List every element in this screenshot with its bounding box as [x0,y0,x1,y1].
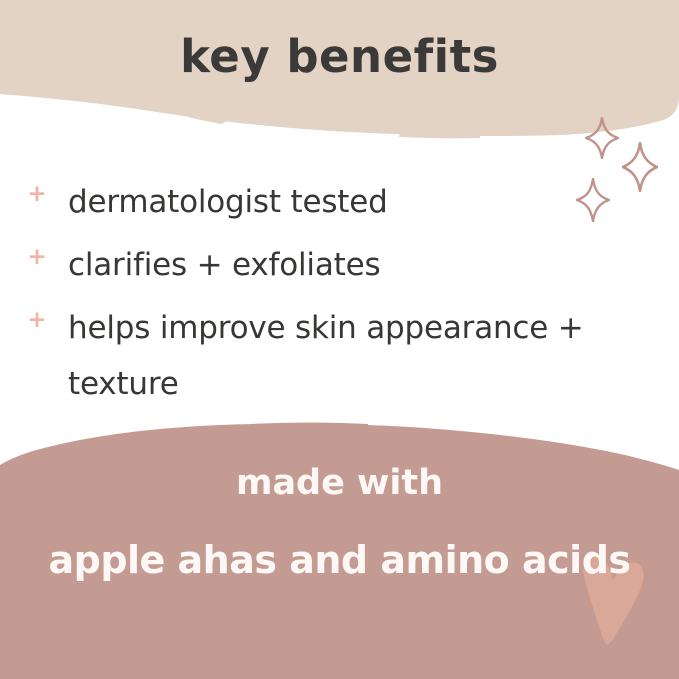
made-with-label: made with [0,466,679,501]
footer-content: made with apple ahas and amino acids [0,466,679,579]
list-item: + helps improve skin appearance + textur… [0,300,679,412]
ingredients-label: apple ahas and amino acids [0,541,679,579]
plus-bullet-icon: + [26,183,48,205]
plus-bullet-icon: + [26,309,48,331]
benefit-label: helps improve skin appearance + texture [68,300,679,412]
sparkle-icon-2 [622,142,658,197]
plus-bullet-icon: + [26,246,48,268]
benefit-label: clarifies + exfoliates [68,237,679,293]
list-item: + clarifies + exfoliates [0,237,679,293]
sparkle-icon-3 [576,178,610,227]
sparkle-icon-1 [585,117,619,164]
page-title: key benefits [0,34,679,79]
product-benefits-infographic: key benefits + dermatologist tested + cl… [0,0,679,679]
